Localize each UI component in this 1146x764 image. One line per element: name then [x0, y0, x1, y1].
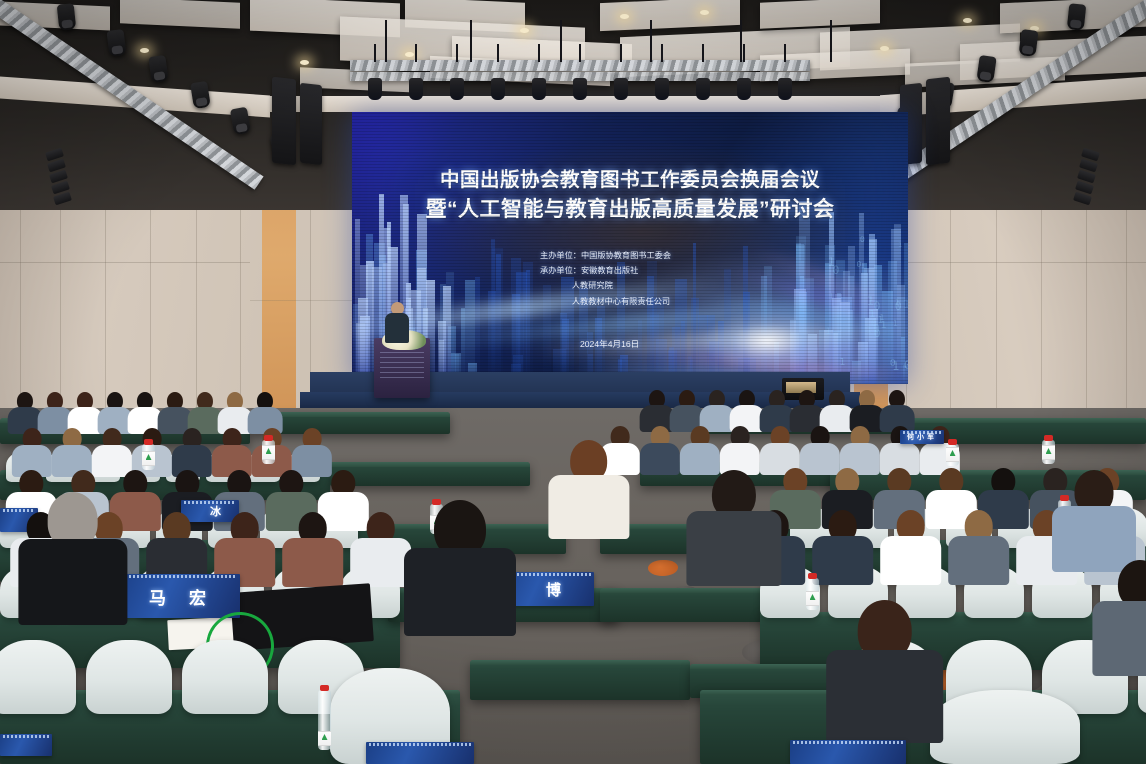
skyline-building: [523, 262, 533, 384]
presenter-at-podium: [385, 302, 409, 342]
screen-title-line-2: 暨“人工智能与教育出版高质量发展”研讨会: [352, 196, 908, 224]
truss-drop-cable: [560, 20, 562, 62]
ceiling-downlight: [963, 18, 972, 23]
moving-head-light: [573, 78, 587, 100]
water-bottle: [318, 690, 331, 750]
binary-digit: 1: [898, 240, 902, 249]
attendee-torso: [812, 536, 874, 584]
attendee-torso: [826, 650, 944, 742]
wall-seam-horizontal: [896, 262, 1146, 263]
light-hanger: [374, 44, 376, 62]
binary-digit: 0: [857, 260, 862, 269]
moving-head-light: [532, 78, 546, 100]
attendee-torso: [1092, 601, 1146, 676]
chair: [0, 640, 76, 714]
attendee: [548, 440, 629, 533]
moving-head-light: [778, 78, 792, 100]
binary-digit: 1: [839, 357, 845, 368]
name-card: 马 宏: [118, 574, 240, 618]
bottle-cap: [144, 439, 153, 445]
light-hanger: [415, 44, 417, 62]
attendee: [212, 428, 252, 474]
moving-head-light: [491, 78, 505, 100]
attendee: [92, 428, 132, 474]
binary-digit: 1: [826, 327, 831, 337]
chair: [86, 640, 172, 714]
chair: [930, 690, 1080, 764]
moving-head-light: [696, 78, 710, 100]
name-card: [366, 742, 474, 764]
attendee: [880, 510, 942, 580]
name-card-header: [184, 501, 236, 504]
attendee: [350, 512, 412, 582]
binary-digit: 1: [893, 319, 898, 328]
light-hanger: [620, 44, 622, 62]
binary-digit: 1: [827, 255, 834, 269]
light-hanger: [579, 44, 581, 62]
moving-head-light: [737, 78, 751, 100]
binary-digit: 1: [903, 297, 908, 311]
light-hanger: [784, 44, 786, 62]
attendee: [282, 512, 344, 582]
binary-digit: 0: [904, 358, 908, 372]
attendee: [146, 512, 208, 582]
attendee: [720, 426, 760, 472]
water-bottle: [262, 440, 275, 464]
light-hanger: [456, 44, 458, 62]
binary-digit: 1: [866, 293, 874, 308]
truss-drop-cable: [470, 20, 472, 62]
ceiling-downlight: [300, 60, 309, 65]
light-hanger: [702, 44, 704, 62]
attendee: [18, 492, 127, 617]
attendee: [640, 426, 680, 472]
bottle-label: [946, 447, 959, 462]
screen-date: 2024年4月16日: [580, 338, 639, 350]
bottle-label: [806, 591, 819, 606]
moving-head-light: [409, 78, 423, 100]
attendee-torso: [686, 511, 781, 586]
moving-head-light: [106, 29, 126, 57]
name-card-header: [369, 743, 471, 746]
binary-digit: 1: [866, 325, 872, 336]
attendee: [948, 510, 1010, 580]
light-hanger: [743, 44, 745, 62]
attendee-torso: [282, 538, 344, 586]
attendee: [812, 510, 874, 580]
truss-drop-cable: [650, 20, 652, 62]
name-card-header: [793, 741, 903, 744]
name-card: [0, 734, 52, 756]
bottle-label: [142, 451, 155, 466]
light-burst: [702, 311, 832, 371]
attendee-torso: [350, 538, 412, 586]
moving-head-light: [1067, 3, 1087, 31]
attendee: [12, 428, 52, 474]
name-card-header: [3, 735, 49, 738]
name-card-header: [903, 431, 941, 434]
light-hanger: [661, 44, 663, 62]
moving-head-light: [57, 3, 77, 31]
ceiling-downlight: [700, 10, 709, 15]
moving-head-light: [614, 78, 628, 100]
attendee-torso: [18, 539, 127, 625]
attendee: [880, 390, 915, 430]
bottle-cap: [264, 435, 273, 441]
bottle-label: [1042, 445, 1055, 460]
led-backdrop-screen: 00100110111100111111010110 中国出版协会教育图书工作委…: [352, 112, 908, 384]
wall-seam-horizontal: [0, 262, 250, 263]
name-card: [790, 740, 906, 764]
bottle-cap: [808, 573, 817, 579]
attendee-torso: [640, 443, 680, 475]
line-array-speaker: [300, 83, 322, 165]
presenter-body: [385, 313, 409, 343]
attendee: [404, 500, 516, 628]
attendee: [214, 512, 276, 582]
attendee: [172, 428, 212, 474]
bottle-cap: [1044, 435, 1053, 441]
skyline-building: [496, 254, 501, 384]
attendee-torso: [548, 475, 629, 539]
binary-digit: 0: [895, 299, 902, 313]
attendee: [760, 426, 800, 472]
bottle-label: [318, 731, 331, 746]
name-card: 何小军: [900, 430, 944, 444]
attendee: [248, 392, 283, 432]
podium-signage: [380, 348, 424, 378]
name-card-text: 马 宏: [149, 584, 209, 609]
binary-digit: 1: [877, 315, 883, 326]
moving-head-light: [450, 78, 464, 100]
water-bottle: [1042, 440, 1055, 464]
name-card-header: [121, 575, 237, 578]
ceiling-downlight: [880, 46, 889, 51]
banquet-table: [470, 660, 690, 700]
moving-head-light: [148, 55, 168, 83]
attendee: [686, 470, 781, 579]
truss-drop-cable: [385, 20, 387, 62]
bottle-label: [262, 445, 275, 460]
light-hanger: [497, 44, 499, 62]
water-bottle: [806, 578, 819, 610]
bottle-cap: [320, 685, 329, 691]
attendee: [800, 426, 840, 472]
water-bottle: [142, 444, 155, 470]
moving-head-light: [655, 78, 669, 100]
attendee: [1092, 560, 1146, 669]
ceiling-downlight: [620, 14, 629, 19]
water-bottle: [946, 444, 959, 466]
attendee: [840, 426, 880, 472]
ceiling-downlight: [405, 52, 414, 57]
attendee: [1052, 470, 1136, 566]
attendee: [680, 426, 720, 472]
ceiling-soffit: [250, 96, 896, 112]
attendee: [292, 428, 332, 474]
line-array-speaker: [926, 77, 950, 166]
attendee-torso: [880, 536, 942, 584]
light-hanger: [538, 44, 540, 62]
binary-digit: 1: [828, 292, 834, 303]
chair: [182, 640, 268, 714]
screen-organizers: 主办单位：中国版协教育图书工委会 承办单位：安徽教育出版社 人教研究院 人教教材…: [540, 248, 671, 309]
ceiling-downlight: [520, 28, 529, 33]
binary-digit: 0: [860, 234, 865, 244]
attendee: [52, 428, 92, 474]
ceiling-downlight: [140, 48, 149, 53]
truss-drop-cable: [830, 20, 832, 62]
truss-drop-cable: [740, 20, 742, 62]
binary-digit: 0: [871, 319, 876, 329]
conference-photo: 00100110111100111111010110 中国出版协会教育图书工作委…: [0, 0, 1146, 764]
attendee: [826, 600, 944, 734]
attendee-torso: [948, 536, 1010, 584]
attendee-torso: [404, 548, 516, 636]
name-card-text: 博: [528, 579, 564, 600]
bottle-cap: [948, 439, 957, 445]
screen-title-line-1: 中国出版协会教育图书工作委员会换届会议: [352, 167, 908, 193]
moving-head-light: [368, 78, 382, 100]
line-array-speaker: [272, 77, 296, 166]
binary-digit: 0: [890, 358, 896, 369]
